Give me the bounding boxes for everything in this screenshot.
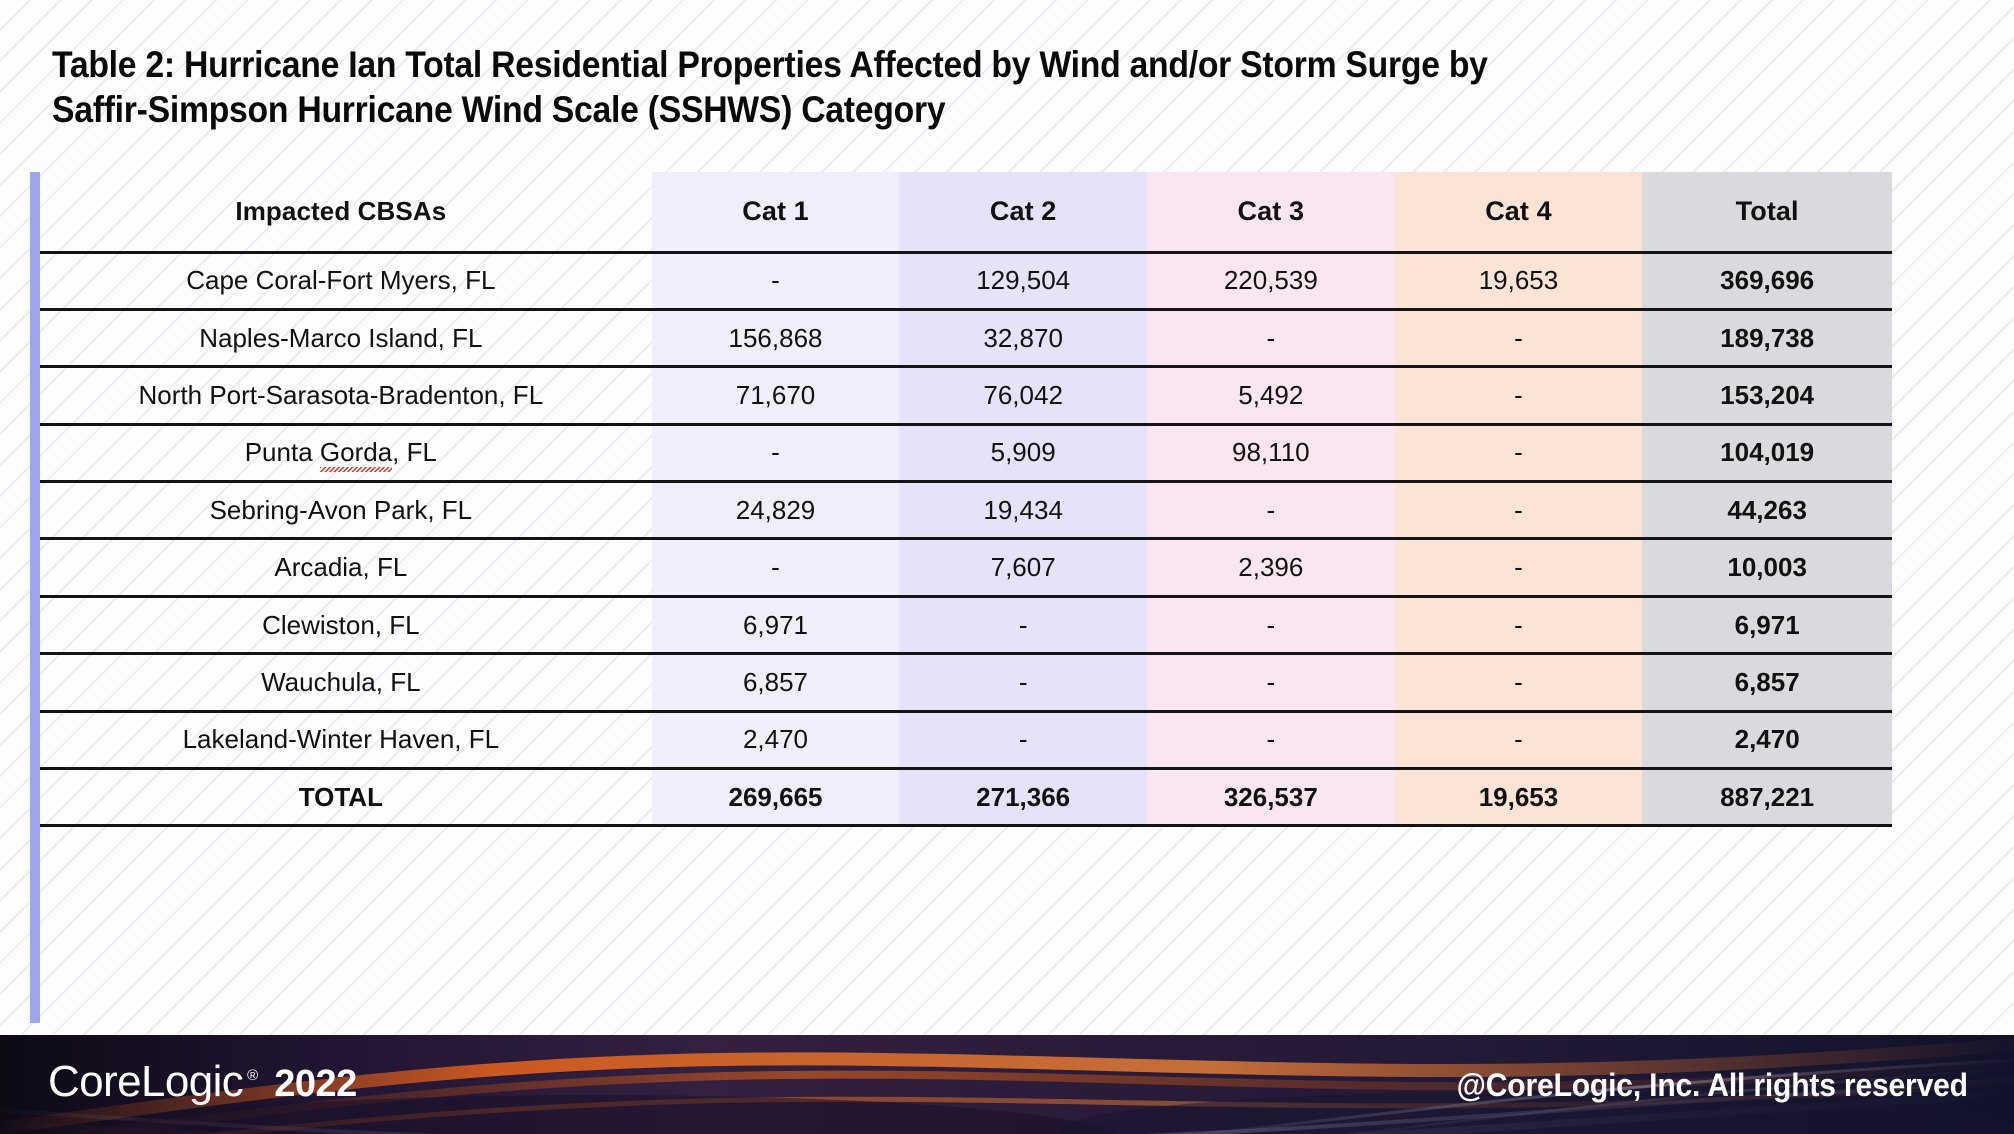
total-label-cell: TOTAL — [30, 769, 652, 826]
left-accent-bar — [30, 172, 40, 1023]
cell-cat2: 7,607 — [899, 539, 1147, 596]
header-row: Impacted CBSAs Cat 1 Cat 2 Cat 3 Cat 4 T… — [30, 172, 1892, 252]
cell-cat4: - — [1395, 367, 1643, 424]
cell-cat3: - — [1147, 596, 1395, 653]
cell-total: 6,857 — [1642, 654, 1892, 711]
cell-cat1: - — [652, 424, 900, 481]
cell-cat2: 19,434 — [899, 482, 1147, 539]
cell-cat4: - — [1395, 309, 1643, 366]
cbsa-name-cell: Sebring-Avon Park, FL — [30, 482, 652, 539]
spellcheck-underlined-word: Gorda — [320, 437, 392, 467]
column-header-cbsa: Impacted CBSAs — [30, 172, 652, 252]
table-total-row: TOTAL269,665271,366326,53719,653887,221 — [30, 769, 1892, 826]
page-title: Table 2: Hurricane Ian Total Residential… — [52, 42, 1744, 132]
table-row: Clewiston, FL6,971---6,971 — [30, 596, 1892, 653]
cell-cat3: - — [1147, 309, 1395, 366]
table-row: Wauchula, FL6,857---6,857 — [30, 654, 1892, 711]
cell-cat4: - — [1395, 539, 1643, 596]
cell-total: 44,263 — [1642, 482, 1892, 539]
cell-cat2: 129,504 — [899, 252, 1147, 309]
cell-cat1: 269,665 — [652, 769, 900, 826]
cell-cat2: 76,042 — [899, 367, 1147, 424]
cbsa-name-cell: Wauchula, FL — [30, 654, 652, 711]
cell-cat1: 71,670 — [652, 367, 900, 424]
cell-cat3: 220,539 — [1147, 252, 1395, 309]
cbsa-name-cell: Arcadia, FL — [30, 539, 652, 596]
cell-cat3: 326,537 — [1147, 769, 1395, 826]
cell-total: 2,470 — [1642, 711, 1892, 768]
cell-cat1: 6,971 — [652, 596, 900, 653]
cell-total: 10,003 — [1642, 539, 1892, 596]
cell-cat2: - — [899, 711, 1147, 768]
column-header-cat2: Cat 2 — [899, 172, 1147, 252]
cbsa-name-cell: North Port-Sarasota-Bradenton, FL — [30, 367, 652, 424]
cell-cat3: - — [1147, 482, 1395, 539]
cell-cat4: - — [1395, 711, 1643, 768]
table-row: Sebring-Avon Park, FL24,82919,434--44,26… — [30, 482, 1892, 539]
cell-cat1: - — [652, 252, 900, 309]
cbsa-name-cell: Lakeland-Winter Haven, FL — [30, 711, 652, 768]
cell-cat2: 32,870 — [899, 309, 1147, 366]
table-row: Lakeland-Winter Haven, FL2,470---2,470 — [30, 711, 1892, 768]
table-row: Naples-Marco Island, FL156,86832,870--18… — [30, 309, 1892, 366]
table-row: North Port-Sarasota-Bradenton, FL71,6707… — [30, 367, 1892, 424]
cell-total: 189,738 — [1642, 309, 1892, 366]
cell-cat2: 271,366 — [899, 769, 1147, 826]
data-table-container: Impacted CBSAs Cat 1 Cat 2 Cat 3 Cat 4 T… — [30, 172, 1892, 1023]
cell-total: 369,696 — [1642, 252, 1892, 309]
cell-cat1: - — [652, 539, 900, 596]
copyright-notice: @CoreLogic, Inc. All rights reserved — [1457, 1067, 1968, 1104]
cell-cat2: - — [899, 654, 1147, 711]
cell-cat1: 24,829 — [652, 482, 900, 539]
cell-cat1: 6,857 — [652, 654, 900, 711]
cbsa-name-cell: Punta Gorda, FL — [30, 424, 652, 481]
cell-cat4: 19,653 — [1395, 252, 1643, 309]
cell-cat3: - — [1147, 711, 1395, 768]
cell-total: 887,221 — [1642, 769, 1892, 826]
column-header-total: Total — [1642, 172, 1892, 252]
column-header-cat3: Cat 3 — [1147, 172, 1395, 252]
cell-cat4: - — [1395, 424, 1643, 481]
table-row: Punta Gorda, FL-5,90998,110-104,019 — [30, 424, 1892, 481]
cell-total: 153,204 — [1642, 367, 1892, 424]
table-row: Arcadia, FL-7,6072,396-10,003 — [30, 539, 1892, 596]
cell-cat2: 5,909 — [899, 424, 1147, 481]
cell-cat4: 19,653 — [1395, 769, 1643, 826]
cell-cat2: - — [899, 596, 1147, 653]
cell-cat3: - — [1147, 654, 1395, 711]
table-header: Impacted CBSAs Cat 1 Cat 2 Cat 3 Cat 4 T… — [30, 172, 1892, 252]
brand-year: 2022 — [274, 1063, 357, 1106]
cbsa-name-cell: Cape Coral-Fort Myers, FL — [30, 252, 652, 309]
column-header-cat1: Cat 1 — [652, 172, 900, 252]
column-header-cat4: Cat 4 — [1395, 172, 1643, 252]
footer-banner: CoreLogic ® 2022 @CoreLogic, Inc. All ri… — [0, 1035, 2014, 1134]
cell-cat1: 156,868 — [652, 309, 900, 366]
cell-total: 6,971 — [1642, 596, 1892, 653]
cell-total: 104,019 — [1642, 424, 1892, 481]
cell-cat3: 2,396 — [1147, 539, 1395, 596]
cell-cat1: 2,470 — [652, 711, 900, 768]
cell-cat4: - — [1395, 482, 1643, 539]
registered-trademark-icon: ® — [247, 1067, 258, 1084]
cell-cat3: 5,492 — [1147, 367, 1395, 424]
hurricane-ian-properties-table: Impacted CBSAs Cat 1 Cat 2 Cat 3 Cat 4 T… — [30, 172, 1892, 827]
cell-cat3: 98,110 — [1147, 424, 1395, 481]
cell-cat4: - — [1395, 654, 1643, 711]
cell-cat4: - — [1395, 596, 1643, 653]
table-body: Cape Coral-Fort Myers, FL-129,504220,539… — [30, 252, 1892, 826]
cbsa-name-cell: Clewiston, FL — [30, 596, 652, 653]
cbsa-name-cell: Naples-Marco Island, FL — [30, 309, 652, 366]
brand-name: CoreLogic — [48, 1057, 243, 1107]
table-row: Cape Coral-Fort Myers, FL-129,504220,539… — [30, 252, 1892, 309]
corelogic-logo: CoreLogic ® 2022 — [48, 1057, 357, 1107]
